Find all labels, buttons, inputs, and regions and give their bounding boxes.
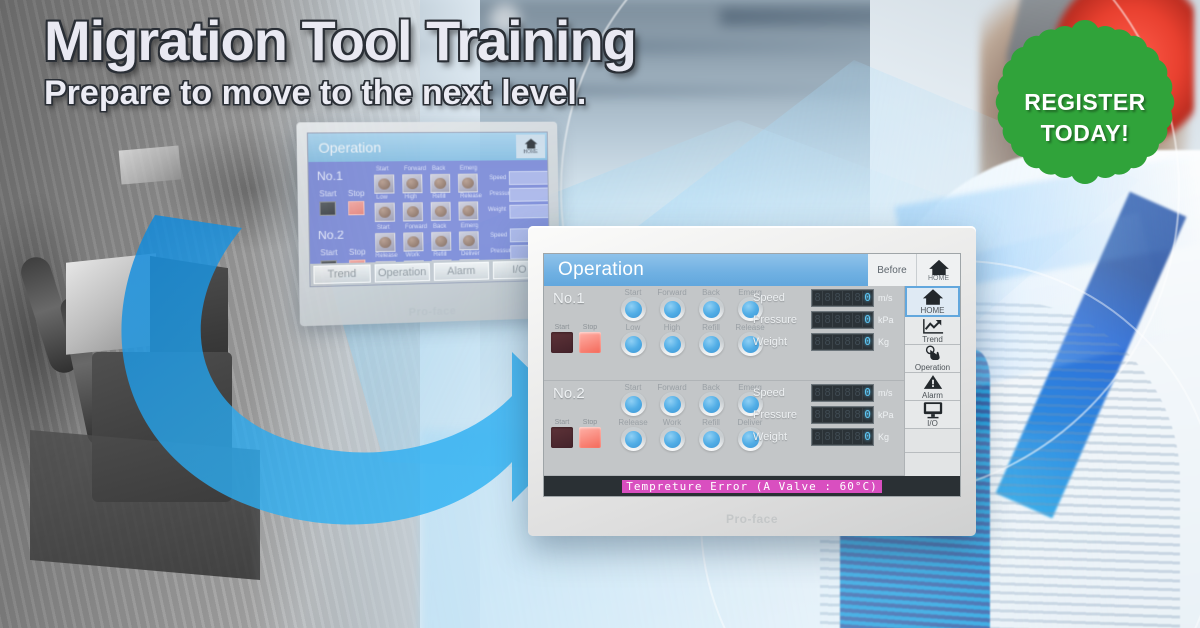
legacy-meter-label: Speed <box>489 175 506 181</box>
legacy-btn-caption: Back <box>433 224 446 230</box>
round-button[interactable] <box>621 427 646 451</box>
grid-button-cell[interactable]: Forward <box>655 288 689 321</box>
grid-button-cell[interactable]: Refill <box>694 418 728 451</box>
unit-panel-no2: No.2 Start Stop <box>544 381 904 476</box>
button-caption: Back <box>702 383 720 392</box>
meter-unit: kPa <box>878 315 900 325</box>
seven-segment-display: 888880 <box>811 311 874 329</box>
button-caption: Refill <box>702 418 720 427</box>
round-button[interactable] <box>660 427 685 451</box>
meter-label: Speed <box>753 292 807 304</box>
badge-text: REGISTER TODAY! <box>985 18 1185 218</box>
sidebar-label-io: I/O <box>927 419 938 428</box>
legacy-round-button[interactable] <box>459 231 479 250</box>
seg-digit: 8 <box>823 335 832 349</box>
header-actions: Before HOME <box>868 254 960 286</box>
seg-digit: 8 <box>813 291 822 305</box>
badge-line-2: TODAY! <box>1041 120 1130 147</box>
legacy-start-button[interactable] <box>319 201 336 215</box>
legacy-btn-caption: Release <box>460 193 482 199</box>
legacy-device-screen: Operation HOME No.1 Start Stop Start <box>307 132 550 288</box>
button-caption: Start <box>625 288 642 297</box>
button-caption: Start <box>625 383 642 392</box>
button-row-1: Start Forward Back Emerg <box>616 288 767 321</box>
seg-digit: 8 <box>843 335 852 349</box>
legacy-home-button[interactable]: HOME <box>516 134 545 158</box>
meter-unit: m/s <box>878 293 900 303</box>
sidebar-item-home[interactable]: HOME <box>905 286 960 317</box>
meter-unit: m/s <box>878 388 900 398</box>
seg-digit: 8 <box>853 313 862 327</box>
round-button[interactable] <box>660 392 685 416</box>
trend-chart-icon <box>922 317 944 335</box>
meter-speed: Speed 888880 m/s <box>753 289 900 307</box>
legacy-start-label: Start <box>320 248 337 258</box>
seg-digit: 8 <box>843 430 852 444</box>
legacy-btn-caption: Start <box>377 225 390 231</box>
seg-digit: 8 <box>853 291 862 305</box>
legacy-tab-alarm[interactable]: Alarm <box>434 262 489 281</box>
round-button[interactable] <box>660 332 685 356</box>
legacy-meter-label: Speed <box>490 233 507 239</box>
warning-triangle-icon <box>922 373 944 391</box>
meter-unit: kPa <box>878 410 900 420</box>
meter-value: 0 <box>863 291 872 305</box>
seg-digit: 8 <box>813 335 822 349</box>
legacy-btn-caption: High <box>405 194 417 200</box>
legacy-btn-caption: Start <box>376 166 389 172</box>
seg-digit: 8 <box>823 430 832 444</box>
legacy-round-button[interactable] <box>431 202 451 221</box>
hand-pointer-icon <box>922 345 944 363</box>
title-subtitle: Prepare to move to the next level. <box>44 75 636 112</box>
meter-weight: Weight 888880 Kg <box>753 333 900 351</box>
legacy-round-button[interactable] <box>374 203 394 222</box>
seg-digit: 8 <box>853 408 862 422</box>
round-button[interactable] <box>699 332 724 356</box>
legacy-btn-caption: Refill <box>433 194 446 200</box>
grid-button-cell[interactable]: High <box>655 323 689 356</box>
seg-digit: 8 <box>813 386 822 400</box>
legacy-screen-body: No.1 Start Stop Start Forward Back Emerg <box>308 160 548 264</box>
home-button[interactable]: HOME <box>916 254 960 286</box>
sidebar-item-io[interactable]: I/O <box>905 401 960 429</box>
home-icon <box>922 288 944 306</box>
legacy-stop-label: Stop <box>349 247 366 256</box>
stop-label: Stop <box>583 419 597 426</box>
seven-segment-display: 888880 <box>811 428 874 446</box>
sidebar-item-empty-1[interactable] <box>905 429 960 453</box>
screen-title: Operation <box>544 259 644 281</box>
grid-button-cell[interactable]: Refill <box>694 323 728 356</box>
meter-speed: Speed 888880 m/s <box>753 384 900 402</box>
button-caption: High <box>664 323 680 332</box>
seg-digit: 8 <box>833 408 842 422</box>
home-icon <box>523 137 538 149</box>
legacy-btn-caption: Release <box>375 253 397 260</box>
round-button[interactable] <box>621 332 646 356</box>
legacy-btn-caption: Forward <box>405 224 427 230</box>
legacy-tab-operation[interactable]: Operation <box>374 263 430 282</box>
screen-header: Operation Before HOME <box>544 254 960 286</box>
legacy-round-button[interactable] <box>374 174 395 193</box>
legacy-tab-trend[interactable]: Trend <box>313 264 370 284</box>
meter-label: Weight <box>753 336 807 348</box>
grid-button-cell[interactable]: Work <box>655 418 689 451</box>
before-button[interactable]: Before <box>868 254 916 286</box>
legacy-screen-title: Operation <box>318 139 381 156</box>
meter-label: Weight <box>753 431 807 443</box>
sidebar-label-trend: Trend <box>922 335 943 344</box>
sidebar-label-operation: Operation <box>915 363 950 372</box>
button-caption: Forward <box>657 383 686 392</box>
meter-value: 0 <box>863 408 872 422</box>
legacy-stop-button[interactable] <box>348 201 365 215</box>
unit-panel-no1: No.1 Start Stop <box>544 286 904 381</box>
start-label: Start <box>555 324 570 331</box>
seg-digit: 8 <box>813 408 822 422</box>
meter-unit: Kg <box>878 337 900 347</box>
button-caption: Release <box>618 418 647 427</box>
legacy-round-button[interactable] <box>375 233 395 253</box>
stop-label: Stop <box>583 324 597 331</box>
start-stop-group: Start Stop <box>551 324 601 353</box>
unit-id-label: No.2 <box>553 385 585 402</box>
home-label: HOME <box>928 275 949 282</box>
legacy-home-label: HOME <box>523 149 538 155</box>
seg-digit: 8 <box>813 430 822 444</box>
grid-button-cell[interactable]: Low <box>616 323 650 356</box>
legacy-btn-caption: Back <box>432 166 445 172</box>
start-stop-group: Start Stop <box>551 419 601 448</box>
seg-digit: 8 <box>813 313 822 327</box>
button-caption: Low <box>626 323 641 332</box>
seg-digit: 8 <box>843 386 852 400</box>
legacy-round-button[interactable] <box>403 232 423 251</box>
legacy-round-button[interactable] <box>458 201 478 220</box>
seg-digit: 8 <box>833 335 842 349</box>
legacy-hmi-device: Operation HOME No.1 Start Stop Start <box>296 122 560 327</box>
button-row-2: Release Work Refill Deliver <box>616 418 767 451</box>
round-button[interactable] <box>660 297 685 321</box>
legacy-tab-bar: Trend Operation Alarm I/O <box>310 258 549 286</box>
legacy-btn-caption: Work <box>406 252 420 258</box>
button-row-2: Low High Refill Release <box>616 323 767 356</box>
meter-group: Speed 888880 m/s Pressure 888880 kPa <box>753 384 900 446</box>
seg-digit: 8 <box>843 291 852 305</box>
sidebar-item-alarm[interactable]: Alarm <box>905 373 960 401</box>
stop-button[interactable] <box>579 332 601 353</box>
sidebar-label-alarm: Alarm <box>922 391 943 400</box>
legacy-btn-caption: Emerg <box>460 166 477 172</box>
seven-segment-display: 888880 <box>811 384 874 402</box>
alarm-message: Tempreture Error (A Valve : 60°C) <box>622 480 882 493</box>
start-button[interactable] <box>551 427 573 448</box>
title-main: Migration Tool Training <box>44 12 636 71</box>
round-button[interactable] <box>699 392 724 416</box>
seg-digit: 8 <box>843 313 852 327</box>
seg-digit: 8 <box>853 430 862 444</box>
grid-button-cell[interactable]: Release <box>616 418 650 451</box>
unit-id-label: No.1 <box>553 290 585 307</box>
legacy-meter-value: 0 <box>509 187 550 201</box>
legacy-btn-caption: Low <box>376 195 387 201</box>
grid-button-cell[interactable]: Back <box>694 288 728 321</box>
sidebar-item-empty-2[interactable] <box>905 453 960 476</box>
round-button[interactable] <box>621 392 646 416</box>
round-button[interactable] <box>699 427 724 451</box>
legacy-round-button[interactable] <box>431 232 451 251</box>
home-icon <box>928 259 950 276</box>
seg-digit: 8 <box>833 430 842 444</box>
button-grid: Start Forward Back Emerg Release Work Re… <box>616 383 767 451</box>
meter-pressure: Pressure 888880 kPa <box>753 406 900 424</box>
meter-label: Pressure <box>753 409 807 421</box>
start-control: Start <box>551 419 573 448</box>
seven-segment-display: 888880 <box>811 333 874 351</box>
sidebar-item-operation[interactable]: Operation <box>905 345 960 373</box>
units-column: No.1 Start Stop <box>544 286 904 476</box>
page-title: Migration Tool Training Prepare to move … <box>44 12 636 112</box>
legacy-btn-caption: Refill <box>434 252 447 258</box>
legacy-unit-no1: No.1 Start Stop Start Forward Back Emerg <box>313 163 545 224</box>
stop-control: Stop <box>579 324 601 353</box>
start-button[interactable] <box>551 332 573 353</box>
seg-digit: 8 <box>853 335 862 349</box>
legacy-round-button[interactable] <box>403 202 423 221</box>
new-hmi-device: Operation Before HOME No.1 <box>528 226 976 536</box>
screen-sidebar: HOME Trend <box>904 286 960 476</box>
seven-segment-display: 888880 <box>811 289 874 307</box>
button-caption: Forward <box>657 288 686 297</box>
legacy-round-button[interactable] <box>402 174 422 193</box>
button-row-1: Start Forward Back Emerg <box>616 383 767 416</box>
button-caption: Work <box>663 418 682 427</box>
device-screen: Operation Before HOME No.1 <box>544 254 960 496</box>
legacy-btn-caption: Emerg <box>461 223 478 229</box>
brand-logo: Pro-face <box>528 512 976 526</box>
seg-digit: 8 <box>843 408 852 422</box>
meter-weight: Weight 888880 Kg <box>753 428 900 446</box>
legacy-unit-id: No.2 <box>318 228 344 243</box>
meter-unit: Kg <box>878 432 900 442</box>
legacy-btn-caption: Forward <box>404 166 426 172</box>
grid-button-cell[interactable]: Start <box>616 383 650 416</box>
seg-digit: 8 <box>823 291 832 305</box>
meter-label: Speed <box>753 387 807 399</box>
grid-button-cell[interactable]: Start <box>616 288 650 321</box>
round-button[interactable] <box>621 297 646 321</box>
start-control: Start <box>551 324 573 353</box>
grid-button-cell[interactable]: Forward <box>655 383 689 416</box>
legacy-start-label: Start <box>319 189 336 198</box>
legacy-round-button[interactable] <box>458 174 478 193</box>
seg-digit: 8 <box>853 386 862 400</box>
meter-value: 0 <box>863 386 872 400</box>
seven-segment-display: 888880 <box>811 406 874 424</box>
meter-value: 0 <box>863 313 872 327</box>
legacy-round-button[interactable] <box>430 174 450 193</box>
alarm-banner: Tempreture Error (A Valve : 60°C) <box>544 476 960 496</box>
register-badge[interactable]: REGISTER TODAY! <box>985 18 1185 218</box>
round-button[interactable] <box>699 297 724 321</box>
seg-digit: 8 <box>823 386 832 400</box>
poster-canvas: Migration Tool Training Prepare to move … <box>0 0 1200 628</box>
seg-digit: 8 <box>823 313 832 327</box>
seg-digit: 8 <box>833 386 842 400</box>
start-label: Start <box>555 419 570 426</box>
screen-main: No.1 Start Stop <box>544 286 960 476</box>
seg-digit: 8 <box>833 313 842 327</box>
button-grid: Start Forward Back Emerg Low High Refill <box>616 288 767 356</box>
button-caption: Refill <box>702 323 720 332</box>
seg-digit: 8 <box>823 408 832 422</box>
legacy-screen-header: Operation HOME <box>308 133 547 163</box>
stop-button[interactable] <box>579 427 601 448</box>
stop-control: Stop <box>579 419 601 448</box>
meter-value: 0 <box>863 335 872 349</box>
meter-pressure: Pressure 888880 kPa <box>753 311 900 329</box>
sidebar-item-trend[interactable]: Trend <box>905 317 960 345</box>
badge-line-1: REGISTER <box>1024 89 1146 116</box>
monitor-icon <box>922 401 944 419</box>
legacy-meter-label: Weight <box>488 207 506 213</box>
legacy-btn-caption: Deliver <box>461 251 479 257</box>
legacy-unit-id: No.1 <box>317 169 343 183</box>
legacy-stop-label: Stop <box>348 189 365 198</box>
seg-digit: 8 <box>833 291 842 305</box>
meter-group: Speed 888880 m/s Pressure 888880 kPa <box>753 289 900 351</box>
meter-label: Pressure <box>753 314 807 326</box>
meter-value: 0 <box>863 430 872 444</box>
legacy-device-bezel: Operation HOME No.1 Start Stop Start <box>296 122 560 327</box>
legacy-meter-value: 0 <box>509 171 550 185</box>
button-caption: Back <box>702 288 720 297</box>
legacy-meter-value: 0 <box>509 204 550 219</box>
device-bezel: Operation Before HOME No.1 <box>528 226 976 536</box>
grid-button-cell[interactable]: Back <box>694 383 728 416</box>
sidebar-label-home: HOME <box>921 306 945 315</box>
